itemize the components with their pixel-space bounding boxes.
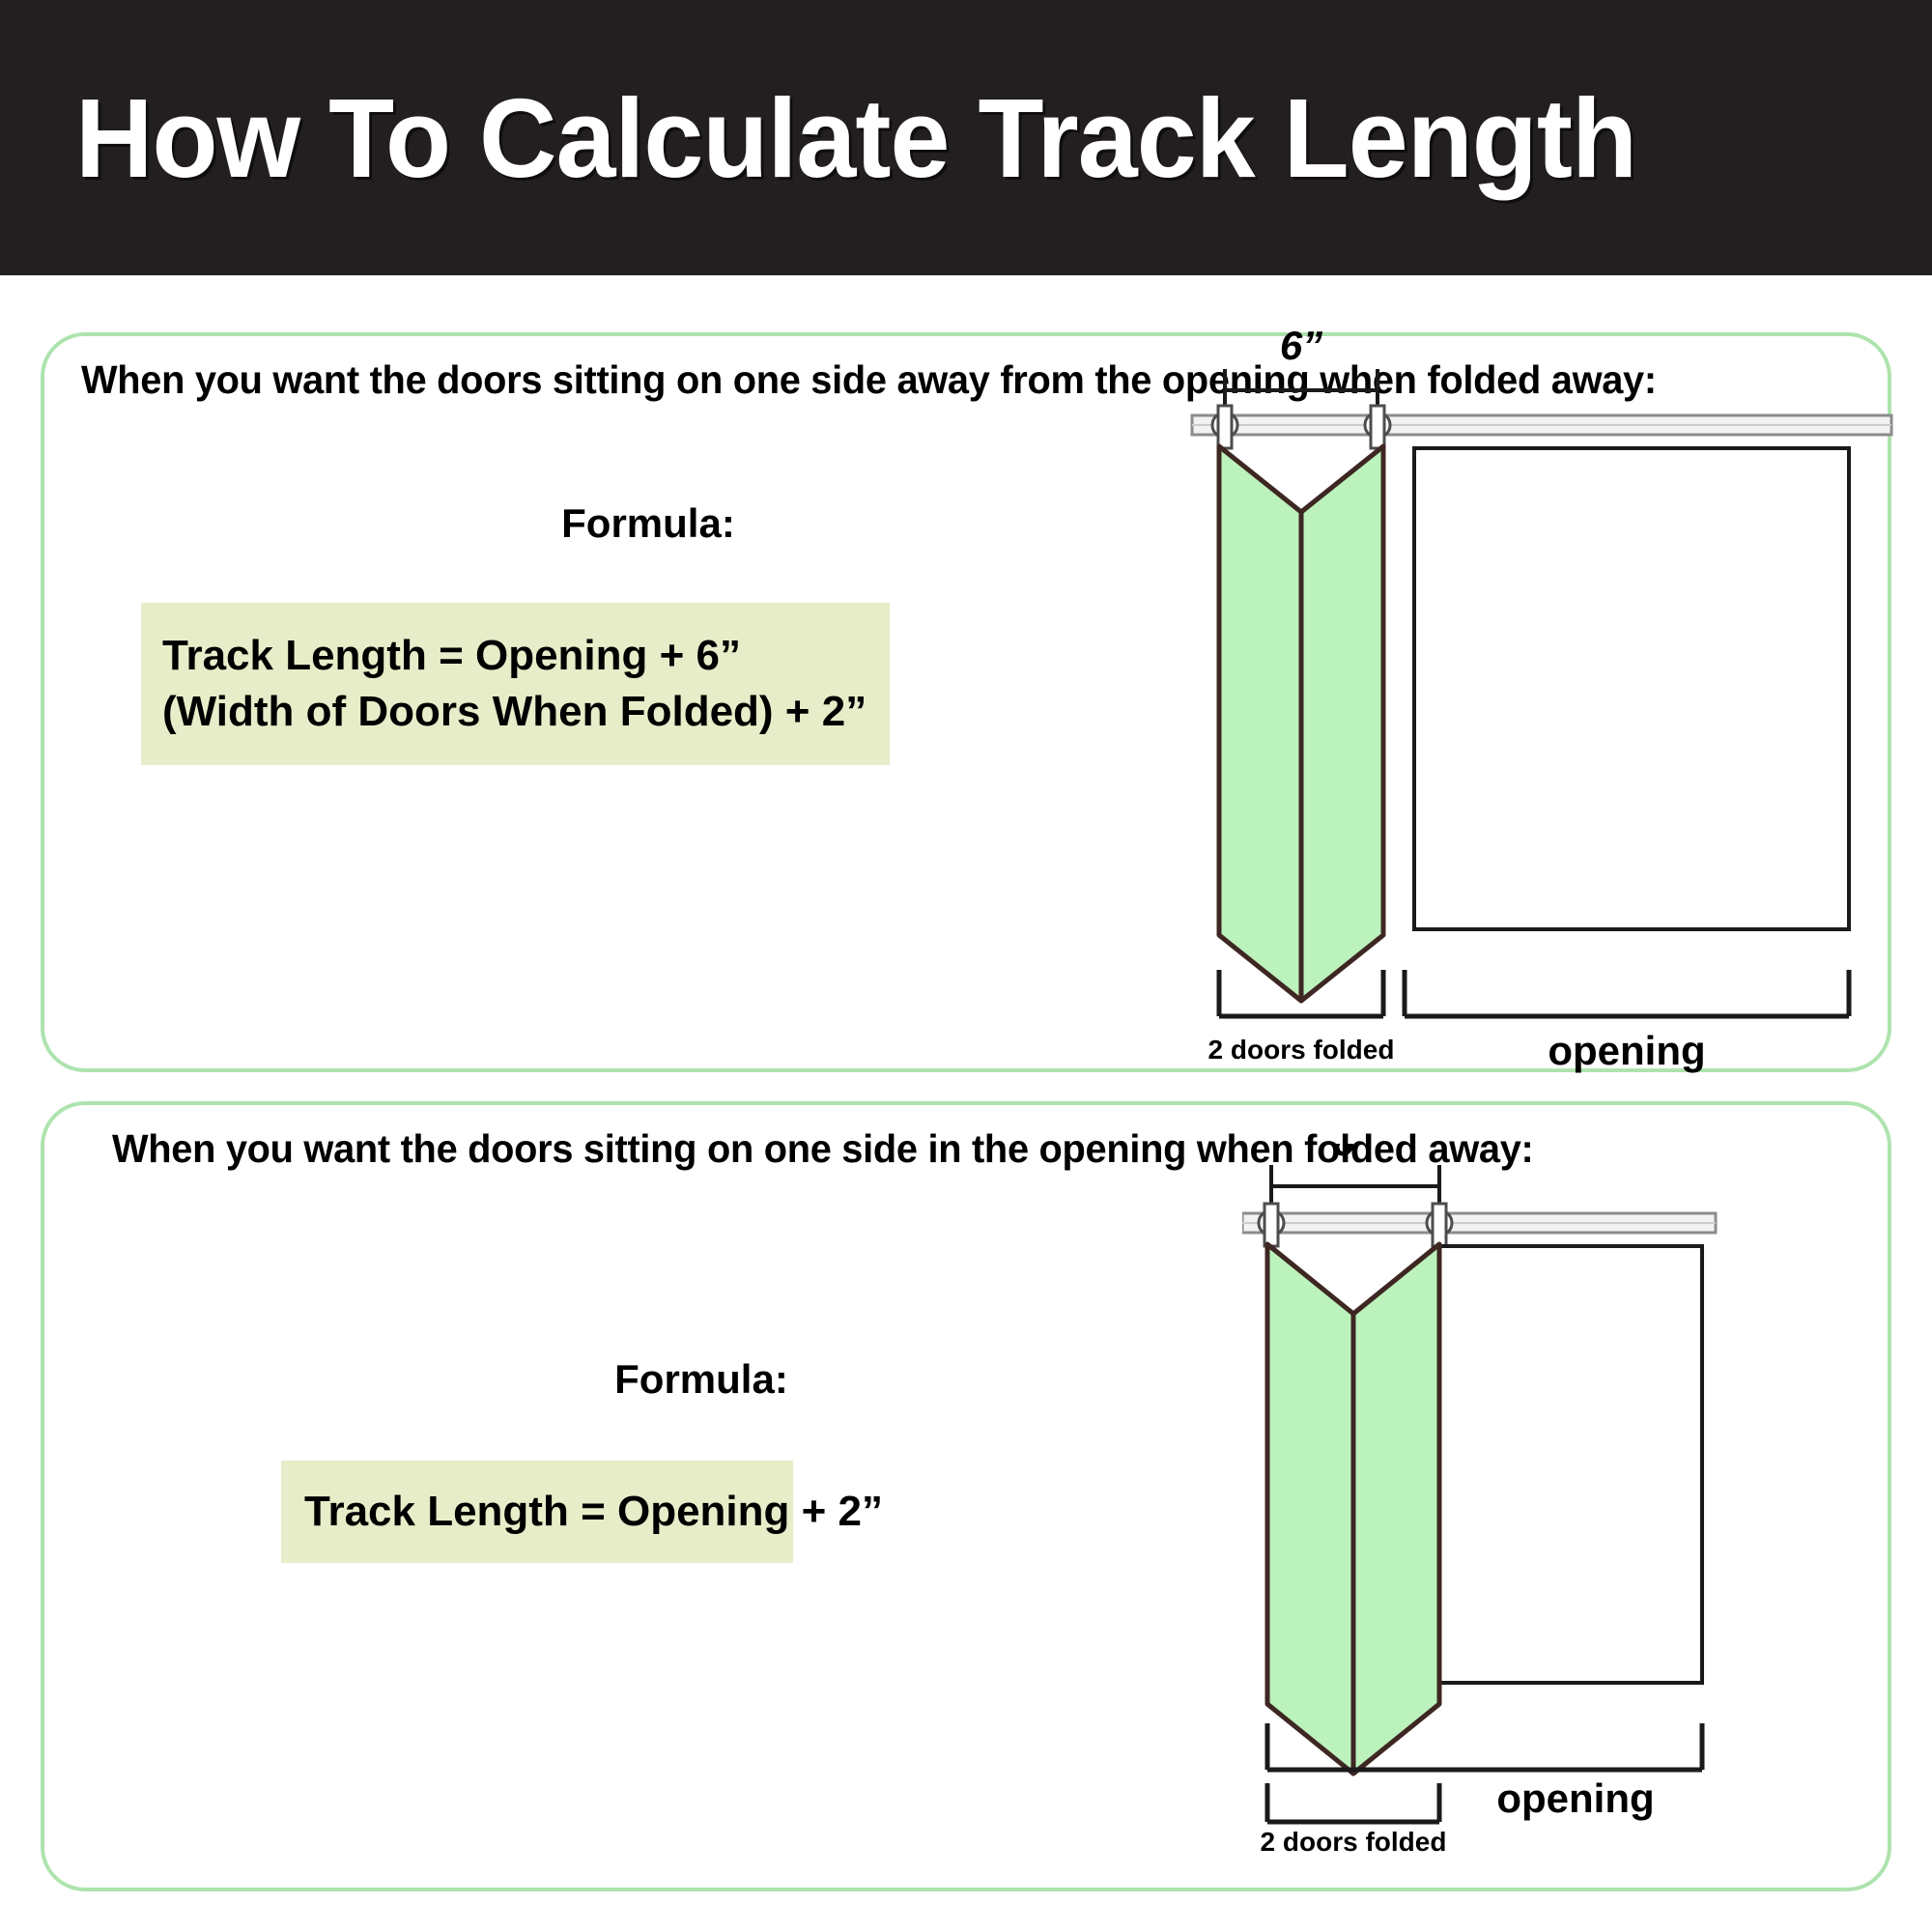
- opening-rectangle: [1414, 448, 1849, 929]
- panel-1-formula-text: Track Length = Opening + 6” (Width of Do…: [141, 603, 890, 765]
- folded-doors: [1267, 1244, 1439, 1774]
- doors-folded-label: 2 doors folded: [1261, 1827, 1447, 1857]
- panel-2-formula-block: Formula: Track Length = Opening + 2”: [44, 1356, 1165, 1563]
- page-title: How To Calculate Track Length: [75, 82, 1636, 194]
- header-banner: How To Calculate Track Length: [0, 0, 1932, 275]
- panel-2-diagram: 6” opening 2 doors folded: [1242, 1144, 1880, 1859]
- dimension-top-label: 6”: [1332, 1144, 1375, 1164]
- panel-2-formula-text: Track Length = Opening + 2”: [281, 1461, 793, 1563]
- hanger-pin-left: [1259, 1204, 1284, 1246]
- panel-doors-in-opening: When you want the doors sitting on one s…: [41, 1101, 1891, 1891]
- hanger-pin-right: [1427, 1204, 1452, 1246]
- dimension-top-label: 6”: [1280, 323, 1322, 368]
- panel-2-formula-label: Formula:: [238, 1356, 1165, 1403]
- hanger-pin-right: [1365, 406, 1390, 448]
- panel-1-formula-block: Formula: Track Length = Opening + 6” (Wi…: [44, 500, 1165, 765]
- track-rail: [1242, 1213, 1716, 1233]
- opening-label: opening: [1548, 1028, 1705, 1073]
- bracket-opening: [1405, 970, 1849, 1016]
- folded-doors: [1219, 446, 1383, 1001]
- hanger-pin-left: [1212, 406, 1237, 448]
- panel-1-diagram: 6” 2 doors folded opening: [1184, 323, 1899, 1086]
- panel-1-formula-label: Formula:: [131, 500, 1165, 547]
- bracket-2-doors-folded: [1267, 1783, 1439, 1822]
- dimension-line-6in: [1271, 1165, 1439, 1207]
- doors-folded-label: 2 doors folded: [1208, 1035, 1395, 1065]
- opening-label: opening: [1496, 1776, 1654, 1821]
- track-rail: [1192, 415, 1891, 435]
- opening-rectangle: [1439, 1246, 1702, 1683]
- panel-doors-away-from-opening: When you want the doors sitting on one s…: [41, 332, 1891, 1072]
- dimension-line-6in: [1225, 369, 1378, 412]
